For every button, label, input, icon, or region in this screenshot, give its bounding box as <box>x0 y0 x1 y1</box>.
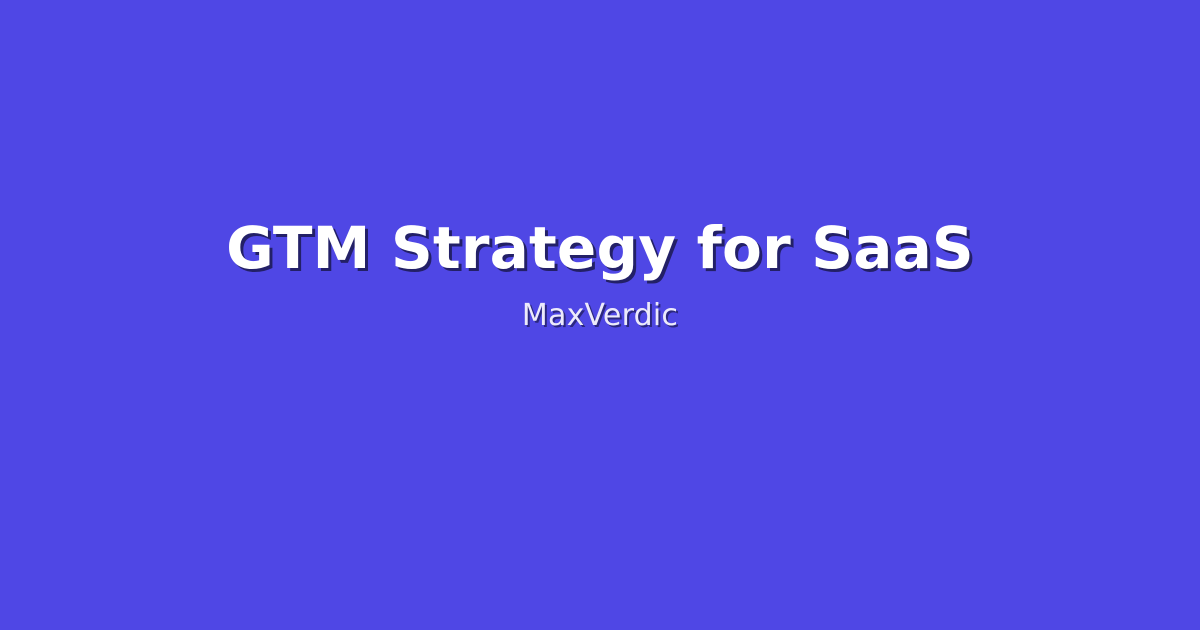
brand-name: MaxVerdic <box>462 298 738 334</box>
og-card: GTM Strategy for SaaS MaxVerdic <box>0 0 1200 630</box>
page-title: GTM Strategy for SaaS <box>166 216 1034 281</box>
card-content: GTM Strategy for SaaS MaxVerdic <box>0 216 1200 335</box>
